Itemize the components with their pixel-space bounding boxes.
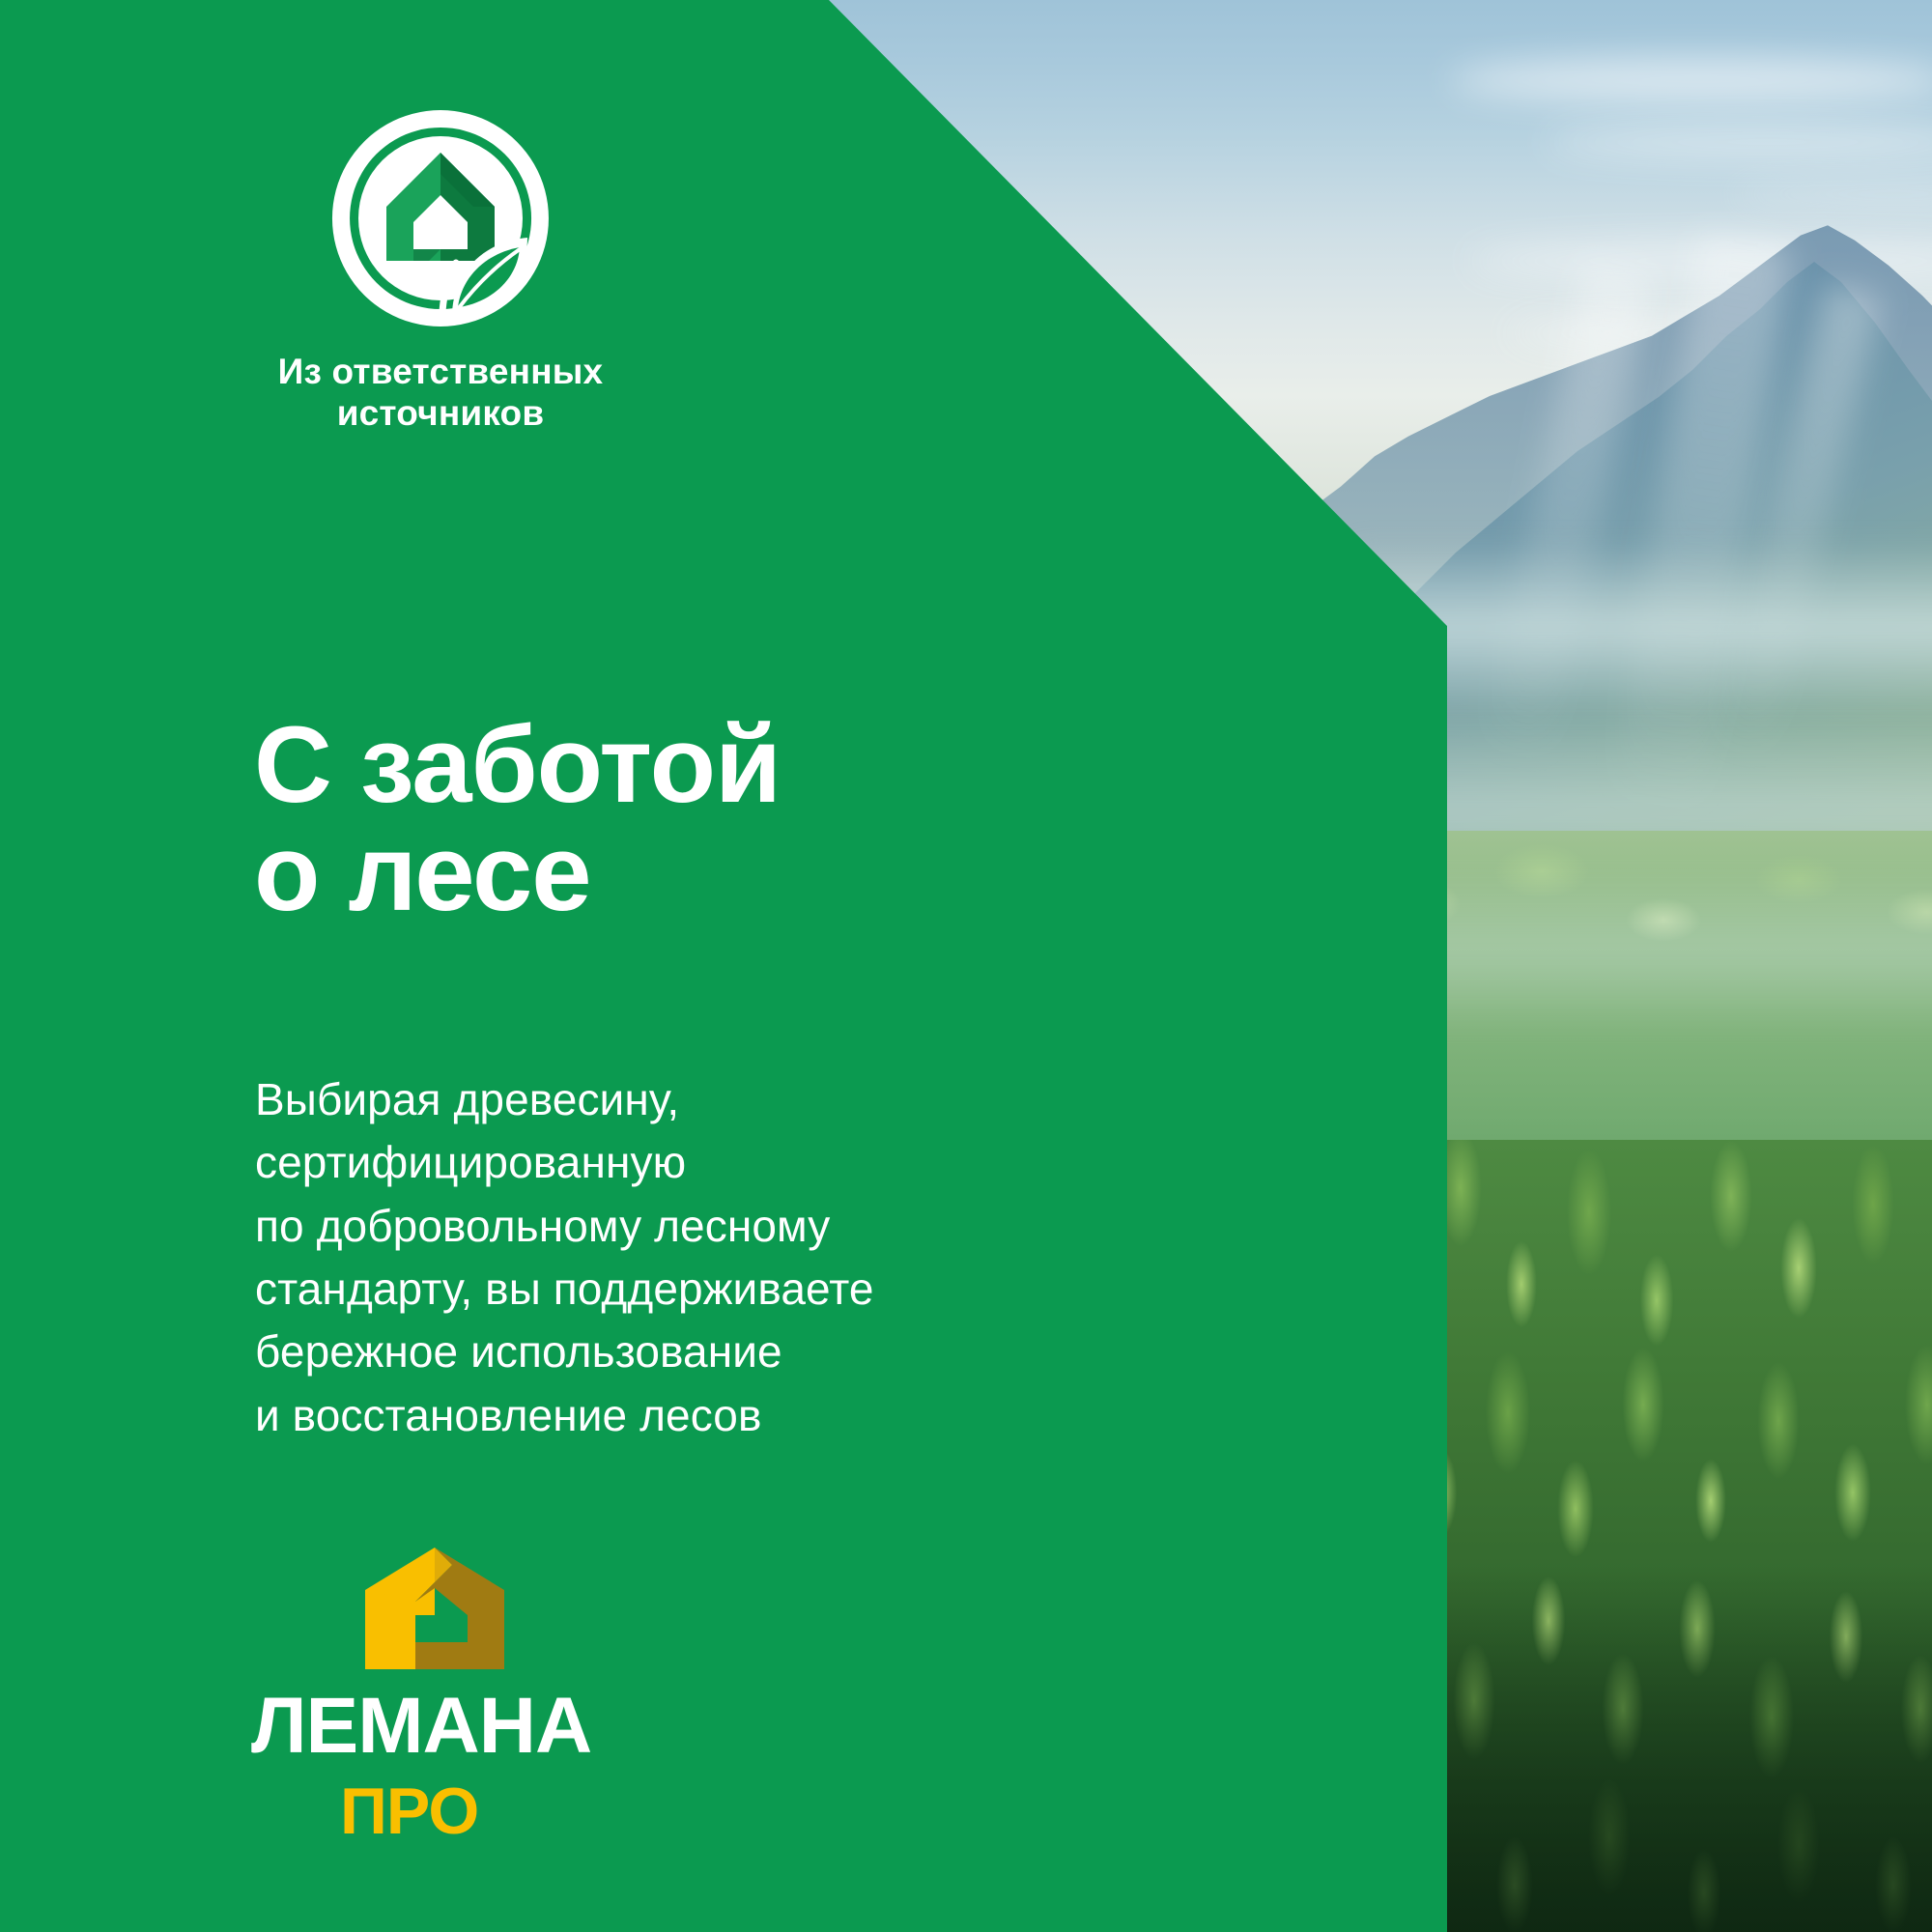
lemana-house-icon	[323, 1546, 547, 1671]
content-layer: Из ответственных источников С заботой о …	[0, 0, 1932, 1932]
page-title: С заботой о лесе	[254, 711, 781, 927]
lemana-wordmark: ЛЕМАНА	[251, 1685, 618, 1768]
body-copy: Выбирая древесину, сертифицированную по …	[255, 1068, 874, 1447]
eco-caption-line-2: источников	[337, 393, 545, 433]
eco-badge-caption: Из ответственных источников	[189, 352, 692, 435]
lemana-pro-logo: ЛЕМАНА ПРО	[251, 1546, 618, 1845]
pro-wordmark-text: ПРО	[340, 1776, 478, 1845]
lemana-wordmark-text: ЛЕМАНА	[251, 1685, 591, 1768]
eco-house-leaf-circle-icon	[328, 106, 553, 330]
pro-wordmark: ПРО	[251, 1776, 618, 1845]
poster-root: Из ответственных источников С заботой о …	[0, 0, 1932, 1932]
eco-badge: Из ответственных источников	[189, 106, 692, 435]
eco-caption-line-1: Из ответственных	[278, 352, 604, 391]
